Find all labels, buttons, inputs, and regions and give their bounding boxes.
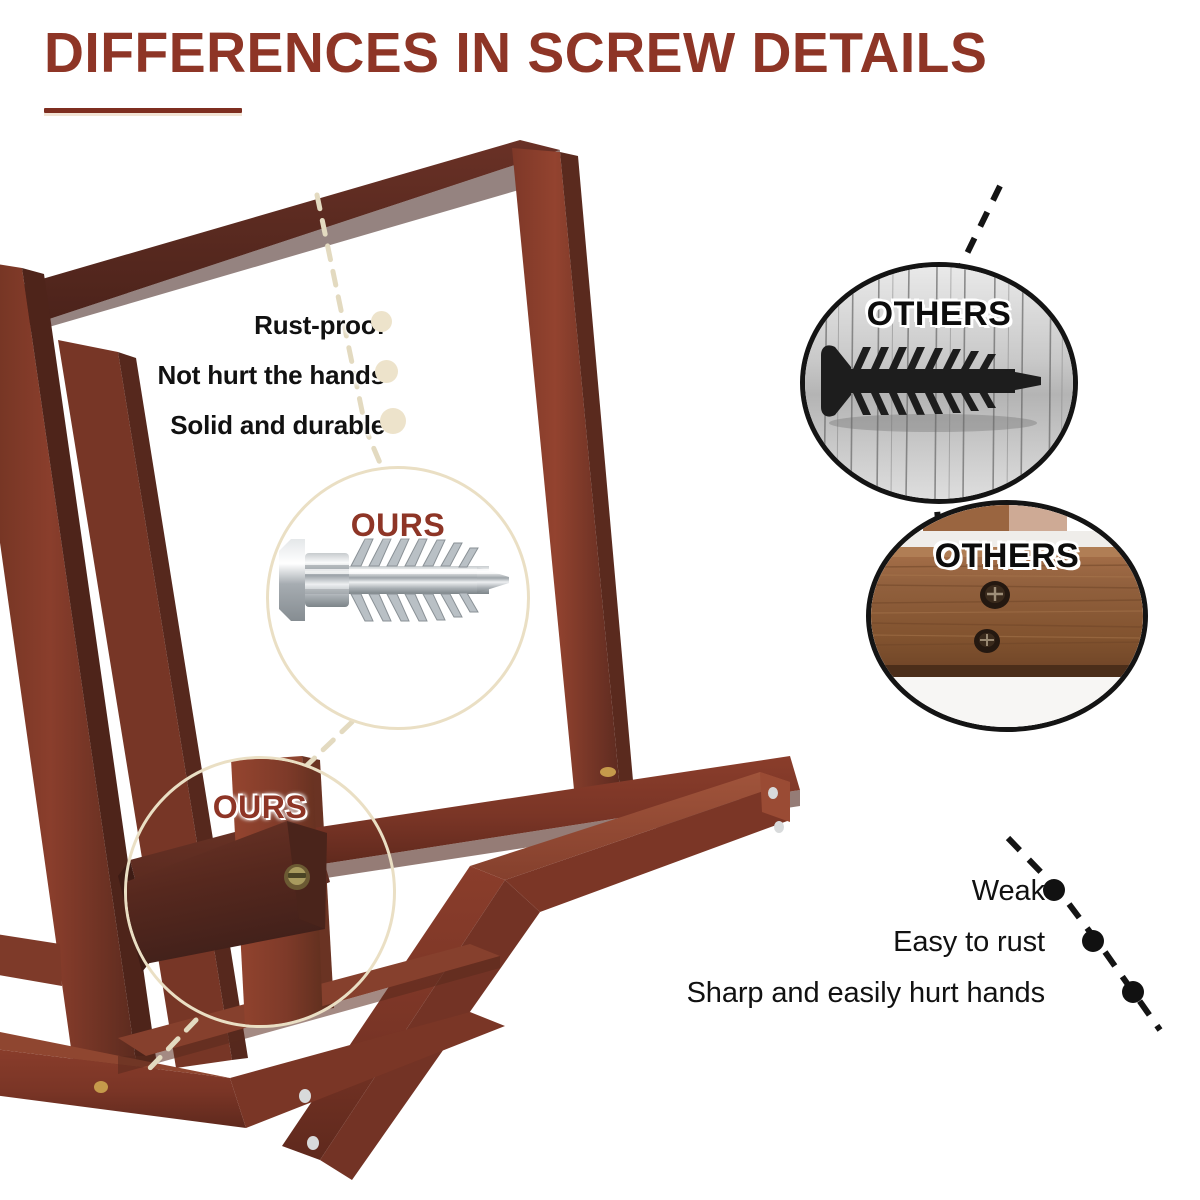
wood-joint-illustration [127,759,393,1025]
light-wood-plank-illustration [871,505,1143,727]
list-item: Weak [485,866,1045,917]
list-item: Not hurt the hands [40,350,385,400]
ours-joint-callout[interactable]: OURS [124,756,396,1028]
ours-screw-callout[interactable]: OURS [266,466,530,730]
black-screw-illustration [805,267,1073,499]
others-bullet-dot [1122,981,1144,1003]
ours-bullet-dot [371,311,392,332]
others-connector-line-top [958,186,1000,272]
list-item: Easy to rust [485,917,1045,968]
title-underline-highlight [44,113,242,116]
ours-benefit-list: Rust-proof Not hurt the hands Solid and … [40,300,385,450]
others-bullet-dot [1082,930,1104,952]
ours-connector-line-bottom [150,1020,196,1068]
others-drawback-list: Weak Easy to rust Sharp and easily hurt … [485,866,1045,1019]
page-title: DIFFERENCES IN SCREW DETAILS [44,20,1072,86]
list-item: Solid and durable [40,400,385,450]
list-item: Sharp and easily hurt hands [485,968,1045,1019]
chrome-screw-illustration [269,469,527,727]
others-plank-callout[interactable]: OTHERS [866,500,1148,732]
others-screw-callout[interactable]: OTHERS [800,262,1078,504]
list-item: Rust-proof [40,300,385,350]
others-bullet-dot [1043,879,1065,901]
infographic-canvas: DIFFERENCES IN SCREW DETAILS Rust-proof … [0,0,1200,1200]
ours-bullet-dot [380,408,406,434]
ours-bullet-dot [375,360,398,383]
